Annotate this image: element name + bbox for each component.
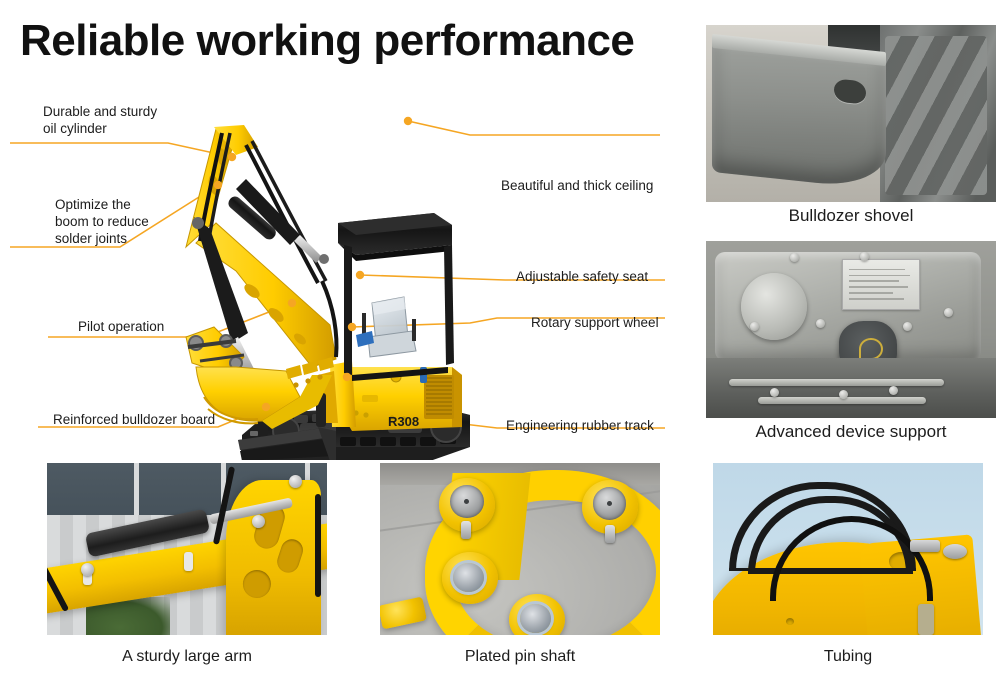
photo-advanced-device-support — [706, 241, 996, 418]
dot-ceiling — [404, 117, 412, 125]
photo-bulldozer-shovel — [706, 25, 996, 202]
page-title: Reliable working performance — [20, 18, 634, 64]
dot-boom — [214, 181, 222, 189]
dot-rubber-track — [343, 373, 351, 381]
dot-bulldozer-board — [262, 403, 270, 411]
caption-sturdy-large-arm: A sturdy large arm — [47, 648, 327, 666]
photo-sturdy-large-arm — [47, 463, 327, 635]
callout-bulldozer-board: Reinforced bulldozer board — [53, 411, 215, 428]
model-badge: R308 — [388, 414, 419, 429]
callout-boom: Optimize the boom to reduce solder joint… — [55, 196, 149, 247]
dot-safety-seat — [356, 271, 364, 279]
caption-plated-pin-shaft: Plated pin shaft — [380, 648, 660, 666]
photo-plated-pin-shaft — [380, 463, 660, 635]
dot-rotary-wheel — [348, 323, 356, 331]
callout-safety-seat: Adjustable safety seat — [516, 268, 648, 285]
caption-advanced-device-support: Advanced device support — [706, 422, 996, 442]
dot-pilot-operation — [288, 299, 296, 307]
caption-bulldozer-shovel: Bulldozer shovel — [706, 206, 996, 226]
infographic-page: Reliable working performance — [0, 0, 999, 690]
callout-oil-cylinder: Durable and sturdy oil cylinder — [43, 103, 157, 137]
callout-rotary-wheel: Rotary support wheel — [531, 314, 659, 331]
excavator-machine: R308 — [186, 125, 470, 460]
photo-tubing — [713, 463, 983, 635]
caption-tubing: Tubing — [713, 648, 983, 666]
dot-oil-cylinder — [228, 153, 236, 161]
callout-ceiling: Beautiful and thick ceiling — [501, 177, 653, 194]
callout-pilot-operation: Pilot operation — [78, 318, 164, 335]
callout-rubber-track: Engineering rubber track — [506, 417, 654, 434]
